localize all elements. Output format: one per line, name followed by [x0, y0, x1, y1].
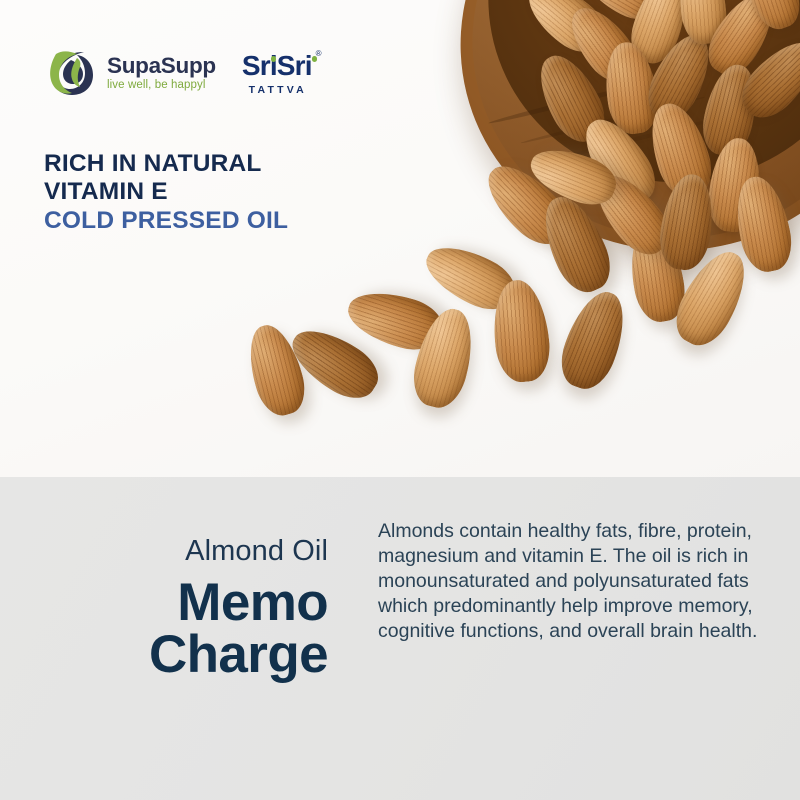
product-name: Memo Charge [149, 577, 328, 682]
almond [552, 284, 635, 396]
supasupp-leaf-circle-icon [44, 46, 98, 100]
product-title-block: Almond Oil Memo Charge [0, 477, 352, 800]
supasupp-wordmark: SupaSupp [107, 55, 216, 78]
srisri-i-dot-icon [271, 56, 277, 62]
product-marketing-image: SupaSupp live well, be happyl SriSri ® T… [0, 0, 800, 800]
product-description-block: Almonds contain healthy fats, fibre, pro… [352, 477, 800, 800]
srisri-wordmark-text: SriSri [242, 50, 312, 81]
product-kicker: Almond Oil [185, 535, 328, 568]
headline-line-2: VITAMIN E [44, 178, 288, 206]
hero-headline: RICH IN NATURAL VITAMIN E COLD PRESSED O… [44, 150, 288, 235]
hero-section: SupaSupp live well, be happyl SriSri ® T… [0, 0, 800, 477]
srisri-wordmark: SriSri ® [242, 52, 312, 80]
supasupp-logo[interactable]: SupaSupp live well, be happyl [44, 46, 216, 100]
supasupp-tagline: live well, be happyl [107, 80, 216, 92]
product-name-line-1: Memo [177, 573, 328, 632]
headline-line-3: COLD PRESSED OIL [44, 207, 288, 235]
product-name-line-2: Charge [149, 625, 328, 684]
srisri-tattva-logo[interactable]: SriSri ® TATTVA [242, 50, 312, 96]
product-info-section: Almond Oil Memo Charge Almonds contain h… [0, 477, 800, 800]
brand-logo-row: SupaSupp live well, be happyl SriSri ® T… [44, 46, 312, 100]
headline-line-1: RICH IN NATURAL [44, 150, 288, 178]
registered-trademark-icon: ® [316, 50, 321, 58]
product-description: Almonds contain healthy fats, fibre, pro… [378, 519, 772, 644]
srisri-sub-wordmark: TATTVA [244, 84, 312, 96]
almond-bowl-photo [250, 0, 800, 477]
